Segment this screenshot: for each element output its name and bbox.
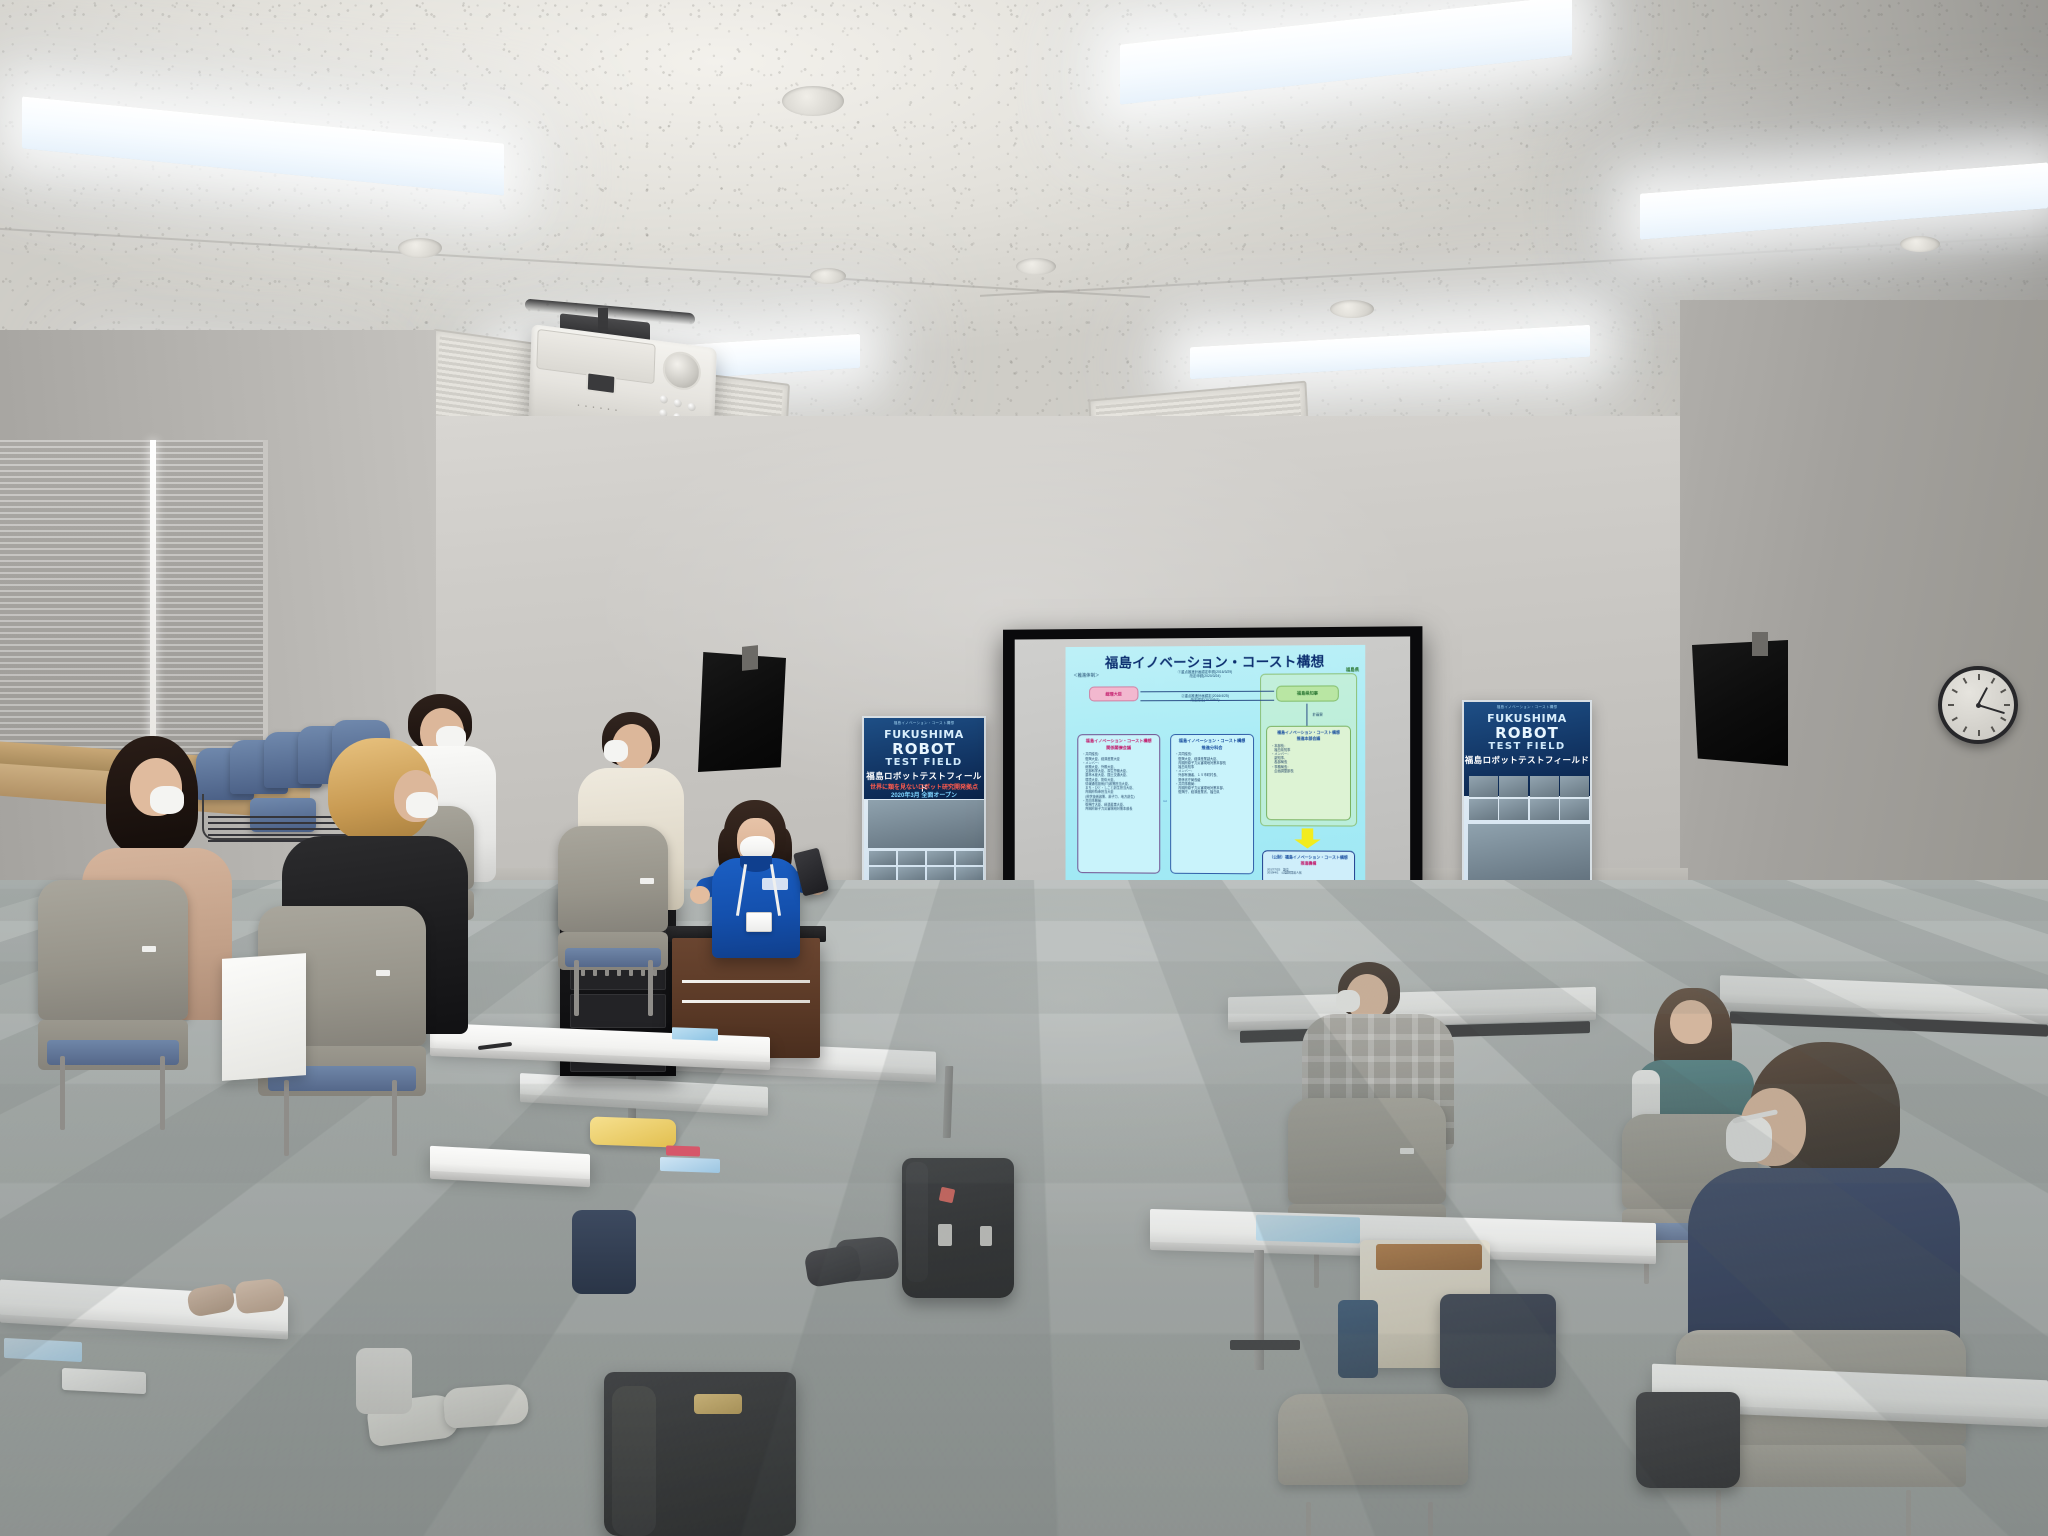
stacking-chair[interactable]	[38, 880, 188, 1130]
wall-speaker-right	[1692, 640, 1788, 766]
window-blinds[interactable]	[0, 440, 263, 758]
brochure[interactable]	[660, 1157, 720, 1173]
slide-arrow-horizontal-2	[1140, 700, 1274, 702]
slide-plan-label: 計画案	[1312, 712, 1322, 717]
sock	[356, 1348, 412, 1414]
stacking-chair[interactable]	[558, 826, 668, 1016]
table-leg	[1254, 1250, 1264, 1370]
slide-node-kankeishou: 福島イノベーション・コースト構想 関係閣僚会議 ・共同議長： 復興大臣、経済産業…	[1077, 734, 1160, 874]
projector-lens	[662, 349, 701, 392]
smartphone[interactable]	[62, 1368, 146, 1394]
backpack-strap	[906, 1162, 928, 1282]
speaker-bracket	[742, 645, 758, 671]
slide-note-top: ①重点推進計画認定申請(2016/3/29) 改定申請(2020/3/24)	[1159, 670, 1251, 679]
ceiling-fitting	[1900, 236, 1940, 252]
window-with-blinds	[0, 440, 268, 758]
slide-content: 福島イノベーション・コースト構想 ＜推進体制＞ 福島県 ①重点推進計画認定申請(…	[1066, 645, 1366, 885]
bag-right-2[interactable]	[1636, 1392, 1740, 1488]
bag-side-pocket	[1338, 1300, 1378, 1378]
poster-left: 福島イノベーション・コースト構想 FUKUSHIMA ROBOT TEST FI…	[862, 716, 986, 896]
trousers	[572, 1210, 636, 1294]
brochure[interactable]	[1256, 1215, 1360, 1244]
poster-right: 福島イノベーション・コースト構想 FUKUSHIMA ROBOT TEST FI…	[1462, 700, 1592, 892]
stacking-chair[interactable]	[1278, 1394, 1468, 1536]
poster-left-photo	[868, 800, 984, 848]
backpack-strap	[612, 1386, 656, 1536]
poster-left-banner2: 2020年3月 全面オープン	[866, 790, 982, 799]
presenter-shirt	[712, 858, 800, 958]
slide-arrow-between: ↔	[1162, 798, 1168, 804]
presenter-hand-left	[690, 886, 710, 904]
ceiling-fitting	[810, 268, 846, 284]
slide-node-honbu: 福島イノベーション・コースト構想 推進本部会議 ・本部長： 福島県知事 ・メンバ…	[1266, 726, 1351, 821]
projector-pole	[598, 308, 608, 330]
slide-arrow-horizontal	[1140, 691, 1274, 693]
poster-right-title3: TEST FIELD	[1464, 741, 1590, 752]
red-card[interactable]	[666, 1145, 700, 1156]
poster-left-title3: TEST FIELD	[864, 757, 984, 768]
poster-right-header: 福島イノベーション・コースト構想	[1468, 705, 1586, 710]
poster-right-title2: ROBOT	[1464, 724, 1590, 742]
slide-node-minister: 総理大臣	[1089, 686, 1138, 701]
ceiling-fitting	[1330, 300, 1374, 318]
id-badge	[746, 912, 772, 932]
backpack-accent	[694, 1394, 742, 1414]
speaker-bracket	[1752, 632, 1768, 656]
poster-left-title2: ROBOT	[864, 740, 984, 758]
ceiling-fitting	[1016, 258, 1056, 275]
poster-left-header: 福島イノベーション・コースト構想	[868, 721, 980, 726]
wall-clock	[1938, 666, 2018, 744]
projector-brand-label: · · · · · ·	[577, 400, 619, 415]
slide-arrow-down	[1294, 828, 1320, 848]
poster-right-photo	[1468, 824, 1590, 886]
slide-node-governor: 福島県知事	[1276, 685, 1339, 701]
face-mask	[604, 740, 628, 762]
slide-note-bottom: ②重点推進計画認定(2016/4/25) 改定認定(2020/5/1)	[1159, 694, 1251, 703]
slide-node-bunkakai: 福島イノベーション・コースト構想 推進分科会 ・共同議長： 復興大臣、経済産業副…	[1170, 734, 1254, 874]
poster-left-photo-grid	[869, 851, 983, 881]
table-foot	[1230, 1340, 1300, 1350]
brochure[interactable]	[672, 1027, 718, 1041]
blind-gap	[150, 440, 156, 758]
face-mask	[1336, 990, 1360, 1012]
right-wall	[1680, 300, 2048, 920]
brochure[interactable]	[4, 1338, 82, 1362]
backpack-logo	[939, 1187, 956, 1204]
whiteboard-panel[interactable]	[222, 953, 306, 1081]
pencil-case[interactable]	[590, 1116, 676, 1147]
presenter	[690, 800, 820, 990]
slide-section-label: ＜推進体制＞	[1073, 673, 1099, 679]
seminar-room-photo: · · · · · · 福島イノベーション・コースト構想 FUKUS	[0, 0, 2048, 1536]
tote-bag-handle	[1376, 1244, 1482, 1270]
shoe	[443, 1383, 530, 1429]
projection-screen: 福島イノベーション・コースト構想 ＜推進体制＞ 福島県 ①重点推進計画認定申請(…	[1003, 626, 1422, 900]
slide-title: 福島イノベーション・コースト構想	[1066, 650, 1366, 672]
face-mask	[406, 792, 438, 818]
bag-right[interactable]	[1440, 1294, 1556, 1388]
smoke-detector-icon	[782, 86, 844, 116]
ceiling-fitting	[398, 238, 442, 258]
poster-right-photo-grid	[1469, 776, 1589, 820]
face-mask	[150, 786, 184, 814]
screen-surface: 福島イノベーション・コースト構想 ＜推進体制＞ 福島県 ①重点推進計画認定申請(…	[1015, 636, 1410, 887]
backpack-buckle	[938, 1224, 952, 1246]
clock-minute-hand	[1978, 704, 2005, 714]
poster-right-subtitle: 福島ロボットテストフィールド	[1464, 754, 1590, 766]
backpack-buckle	[980, 1226, 992, 1246]
